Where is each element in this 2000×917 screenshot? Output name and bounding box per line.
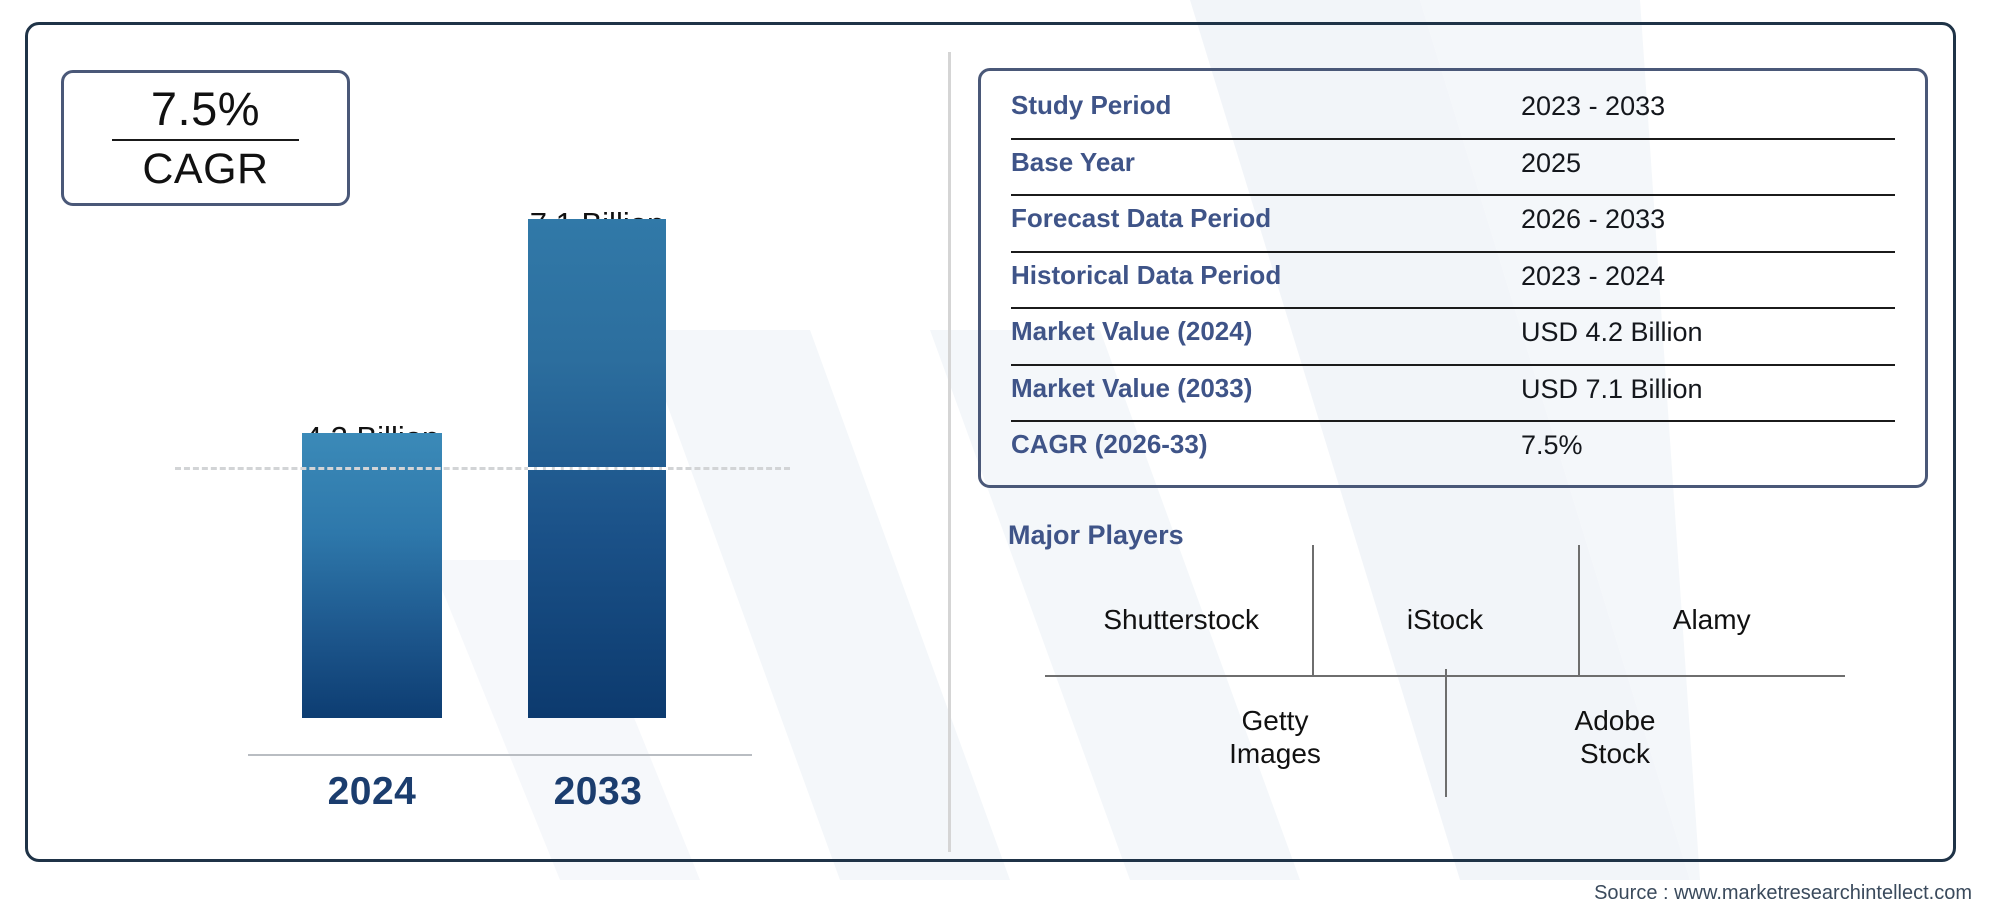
table-row-value: USD 7.1 Billion xyxy=(1521,374,1703,405)
table-row-key: Historical Data Period xyxy=(1011,261,1521,291)
major-player-name: Shutterstock xyxy=(1103,603,1253,636)
table-row-key: CAGR (2026-33) xyxy=(1011,430,1521,460)
major-player-cell: Adobe Stock xyxy=(1445,677,1785,797)
major-players-row: Getty Images Adobe Stock xyxy=(1045,677,1845,797)
table-row-key: Market Value (2033) xyxy=(1011,374,1521,404)
table-row-key: Forecast Data Period xyxy=(1011,204,1521,234)
table-row: Forecast Data Period 2026 - 2033 xyxy=(1011,196,1895,253)
table-row: Market Value (2033) USD 7.1 Billion xyxy=(1011,366,1895,423)
table-row-key: Base Year xyxy=(1011,148,1521,178)
reference-dashed-line-overlay xyxy=(528,467,668,470)
reference-dashed-line xyxy=(175,467,790,470)
major-player-name: Getty Images xyxy=(1200,704,1350,770)
major-players-row: Shutterstock iStock Alamy xyxy=(1045,565,1845,677)
major-players-grid: Shutterstock iStock Alamy Getty Images A… xyxy=(1045,565,1845,797)
major-player-cell: iStock xyxy=(1312,565,1579,675)
major-player-name: Adobe Stock xyxy=(1540,704,1690,770)
major-player-cell: Getty Images xyxy=(1105,677,1445,797)
x-axis-tick-2033: 2033 xyxy=(468,770,728,814)
cagr-label: CAGR xyxy=(142,141,268,192)
table-row: Historical Data Period 2023 - 2024 xyxy=(1011,253,1895,310)
table-row: Study Period 2023 - 2033 xyxy=(1011,83,1895,140)
table-row-value: USD 4.2 Billion xyxy=(1521,317,1703,348)
panel-divider xyxy=(948,52,951,852)
table-row-value: 2023 - 2033 xyxy=(1521,91,1665,122)
table-row-value: 2023 - 2024 xyxy=(1521,261,1665,292)
table-row: Base Year 2025 xyxy=(1011,140,1895,197)
bar-2024 xyxy=(302,433,442,718)
major-player-name: iStock xyxy=(1407,603,1483,636)
major-players-title: Major Players xyxy=(1008,520,1184,551)
x-axis-tick-2024: 2024 xyxy=(242,770,502,814)
major-player-cell: Alamy xyxy=(1578,565,1845,675)
table-row-value: 7.5% xyxy=(1521,430,1583,461)
major-player-name: Alamy xyxy=(1673,603,1751,636)
cagr-value: 7.5% xyxy=(147,84,264,139)
source-attribution: Source : www.marketresearchintellect.com xyxy=(1594,882,1972,905)
table-row-key: Study Period xyxy=(1011,91,1521,121)
table-row-value: 2026 - 2033 xyxy=(1521,204,1665,235)
infographic-canvas: 7.5% CAGR 4.2 Billion 7.1 Billion 2024 2… xyxy=(0,0,2000,917)
cagr-badge: 7.5% CAGR xyxy=(61,70,350,206)
table-row-key: Market Value (2024) xyxy=(1011,317,1521,347)
x-axis-line xyxy=(248,754,752,756)
major-player-cell: Shutterstock xyxy=(1045,565,1312,675)
table-row: CAGR (2026-33) 7.5% xyxy=(1011,422,1895,479)
table-row: Market Value (2024) USD 4.2 Billion xyxy=(1011,309,1895,366)
market-summary-table: Study Period 2023 - 2033 Base Year 2025 … xyxy=(978,68,1928,488)
table-row-value: 2025 xyxy=(1521,148,1581,179)
